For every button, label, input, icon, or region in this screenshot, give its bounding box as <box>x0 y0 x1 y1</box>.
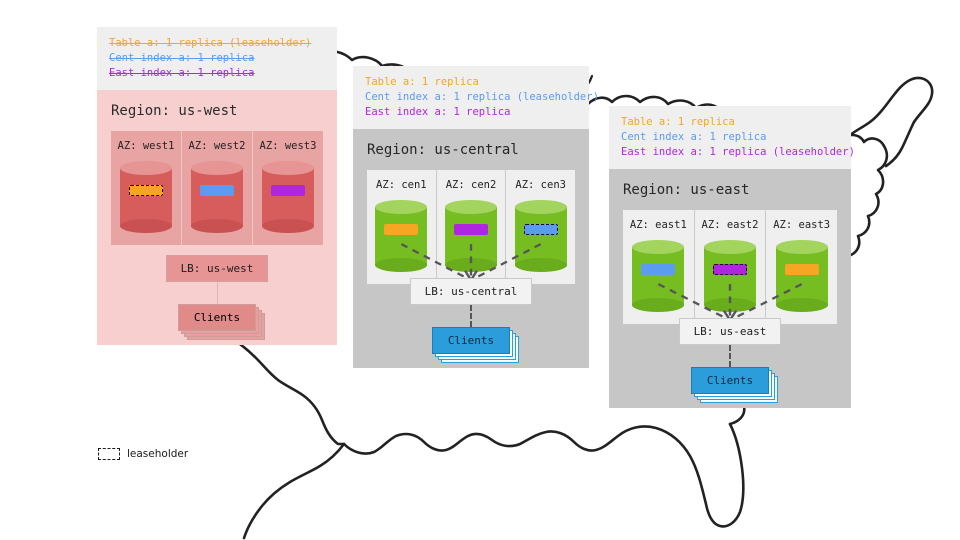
az-label: AZ: cen3 <box>515 179 566 191</box>
legend-key: leaseholder <box>98 448 188 460</box>
region-body: Region: us-centralAZ: cen1AZ: cen2AZ: ce… <box>353 129 589 368</box>
cylinder-body <box>120 168 172 226</box>
replica-legend: Table a: 1 replica (leaseholder)Cent ind… <box>97 27 337 90</box>
cylinder-bottom <box>632 298 684 312</box>
database-cylinder-icon[interactable] <box>704 240 756 312</box>
region-title: Region: us-east <box>609 169 851 210</box>
az-label: AZ: east1 <box>630 219 687 231</box>
replica-bar <box>200 185 234 196</box>
legend-line-east_index: East index a: 1 replica <box>109 66 326 81</box>
database-cylinder-icon[interactable] <box>515 200 567 272</box>
az-cell-cen2[interactable]: AZ: cen2 <box>436 170 506 284</box>
az-cell-west3[interactable]: AZ: west3 <box>252 131 323 245</box>
az-cell-east3[interactable]: AZ: east3 <box>765 210 837 324</box>
az-label: AZ: east3 <box>773 219 830 231</box>
cylinder-bottom <box>262 219 314 233</box>
cylinder-bottom <box>191 219 243 233</box>
dashed-rect-icon <box>98 448 120 460</box>
az-strip: AZ: west1AZ: west2AZ: west3 <box>111 131 323 245</box>
az-strip: AZ: east1AZ: east2AZ: east3 <box>623 210 837 324</box>
load-balancer-box[interactable]: LB: us-central <box>410 278 533 305</box>
region-title: Region: us-west <box>97 90 337 131</box>
cylinder-body <box>375 207 427 265</box>
lb-to-clients-connector <box>470 305 472 327</box>
legend-line-cent_index: Cent index a: 1 replica <box>621 130 840 145</box>
cylinder-body <box>262 168 314 226</box>
cylinder-body <box>632 247 684 305</box>
replica-bar <box>641 264 675 275</box>
replica-legend: Table a: 1 replicaCent index a: 1 replic… <box>609 106 851 169</box>
cylinder-top <box>120 161 172 175</box>
az-cell-west1[interactable]: AZ: west1 <box>111 131 181 245</box>
clients-box[interactable]: Clients <box>178 304 256 331</box>
clients-stack[interactable]: Clients <box>691 367 769 394</box>
legend-line-table: Table a: 1 replica <box>365 75 578 90</box>
cylinder-top <box>704 240 756 254</box>
replica-bar <box>454 224 488 235</box>
cylinder-bottom <box>120 219 172 233</box>
legend-line-table: Table a: 1 replica (leaseholder) <box>109 36 326 51</box>
cylinder-body <box>445 207 497 265</box>
replica-bar-leaseholder <box>524 224 558 235</box>
cylinder-top <box>515 200 567 214</box>
database-cylinder-icon[interactable] <box>120 161 172 233</box>
replica-bar-leaseholder <box>713 264 747 275</box>
cylinder-top <box>375 200 427 214</box>
lb-to-clients-connector <box>729 345 731 367</box>
az-cell-cen3[interactable]: AZ: cen3 <box>505 170 575 284</box>
database-cylinder-icon[interactable] <box>262 161 314 233</box>
database-cylinder-icon[interactable] <box>445 200 497 272</box>
region-title: Region: us-central <box>353 129 589 170</box>
diagram-canvas: Table a: 1 replica (leaseholder)Cent ind… <box>0 0 960 540</box>
cylinder-top <box>776 240 828 254</box>
database-cylinder-icon[interactable] <box>191 161 243 233</box>
load-balancer-box[interactable]: LB: us-west <box>166 255 269 282</box>
region-body: Region: us-eastAZ: east1AZ: east2AZ: eas… <box>609 169 851 408</box>
az-cell-west2[interactable]: AZ: west2 <box>181 131 252 245</box>
legend-line-cent_index: Cent index a: 1 replica <box>109 51 326 66</box>
cylinder-bottom <box>375 258 427 272</box>
az-label: AZ: cen2 <box>446 179 497 191</box>
az-label: AZ: west3 <box>260 140 317 152</box>
az-label: AZ: west1 <box>118 140 175 152</box>
legend-line-east_index: East index a: 1 replica (leaseholder) <box>621 145 840 160</box>
cylinder-body <box>704 247 756 305</box>
database-cylinder-icon[interactable] <box>375 200 427 272</box>
az-label: AZ: cen1 <box>376 179 427 191</box>
region-panel-us-west: Table a: 1 replica (leaseholder)Cent ind… <box>97 27 337 345</box>
replica-bar-leaseholder <box>129 185 163 196</box>
az-label: AZ: west2 <box>189 140 246 152</box>
cylinder-bottom <box>515 258 567 272</box>
database-cylinder-icon[interactable] <box>632 240 684 312</box>
cylinder-top <box>262 161 314 175</box>
legend-line-cent_index: Cent index a: 1 replica (leaseholder) <box>365 90 578 105</box>
clients-stack[interactable]: Clients <box>432 327 510 354</box>
cylinder-body <box>515 207 567 265</box>
legend-line-east_index: East index a: 1 replica <box>365 105 578 120</box>
load-balancer-box[interactable]: LB: us-east <box>679 318 782 345</box>
az-cell-east1[interactable]: AZ: east1 <box>623 210 694 324</box>
replica-bar <box>384 224 418 235</box>
cylinder-bottom <box>704 298 756 312</box>
database-cylinder-icon[interactable] <box>776 240 828 312</box>
region-panel-us-central: Table a: 1 replicaCent index a: 1 replic… <box>353 66 589 368</box>
region-body: Region: us-westAZ: west1AZ: west2AZ: wes… <box>97 90 337 345</box>
clients-box[interactable]: Clients <box>432 327 510 354</box>
replica-bar <box>271 185 305 196</box>
legend-key-label: leaseholder <box>127 448 188 460</box>
cylinder-body <box>191 168 243 226</box>
cylinder-bottom <box>776 298 828 312</box>
cylinder-body <box>776 247 828 305</box>
lb-to-clients-connector <box>217 282 218 304</box>
az-cell-cen1[interactable]: AZ: cen1 <box>367 170 436 284</box>
az-label: AZ: east2 <box>702 219 759 231</box>
cylinder-top <box>191 161 243 175</box>
region-panel-us-east: Table a: 1 replicaCent index a: 1 replic… <box>609 106 851 408</box>
clients-box[interactable]: Clients <box>691 367 769 394</box>
replica-legend: Table a: 1 replicaCent index a: 1 replic… <box>353 66 589 129</box>
az-strip: AZ: cen1AZ: cen2AZ: cen3 <box>367 170 575 284</box>
clients-stack[interactable]: Clients <box>178 304 256 331</box>
legend-line-table: Table a: 1 replica <box>621 115 840 130</box>
cylinder-top <box>632 240 684 254</box>
az-cell-east2[interactable]: AZ: east2 <box>694 210 766 324</box>
cylinder-top <box>445 200 497 214</box>
replica-bar <box>785 264 819 275</box>
cylinder-bottom <box>445 258 497 272</box>
